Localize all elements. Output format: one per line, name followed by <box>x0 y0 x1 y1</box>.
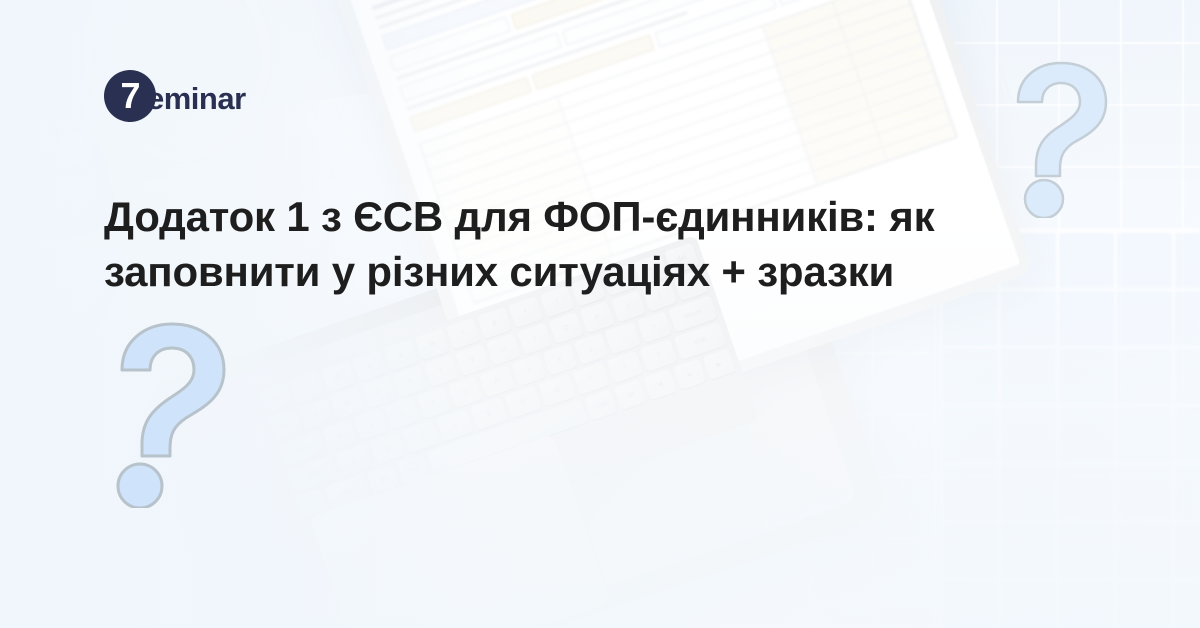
brand-logo[interactable]: 7 eminar <box>104 70 246 122</box>
logo-seven-badge: 7 <box>104 70 156 122</box>
banner-content: 7 eminar Додаток 1 з ЄСВ для ФОП-єдинник… <box>0 0 1200 628</box>
logo-wordmark: eminar <box>147 79 246 114</box>
page-title: Додаток 1 з ЄСВ для ФОП-єдинників: як за… <box>104 190 1044 299</box>
promo-banner: esc!@#$%^&*()—+del tabQWERTYUIOP{}| caps… <box>0 0 1200 628</box>
